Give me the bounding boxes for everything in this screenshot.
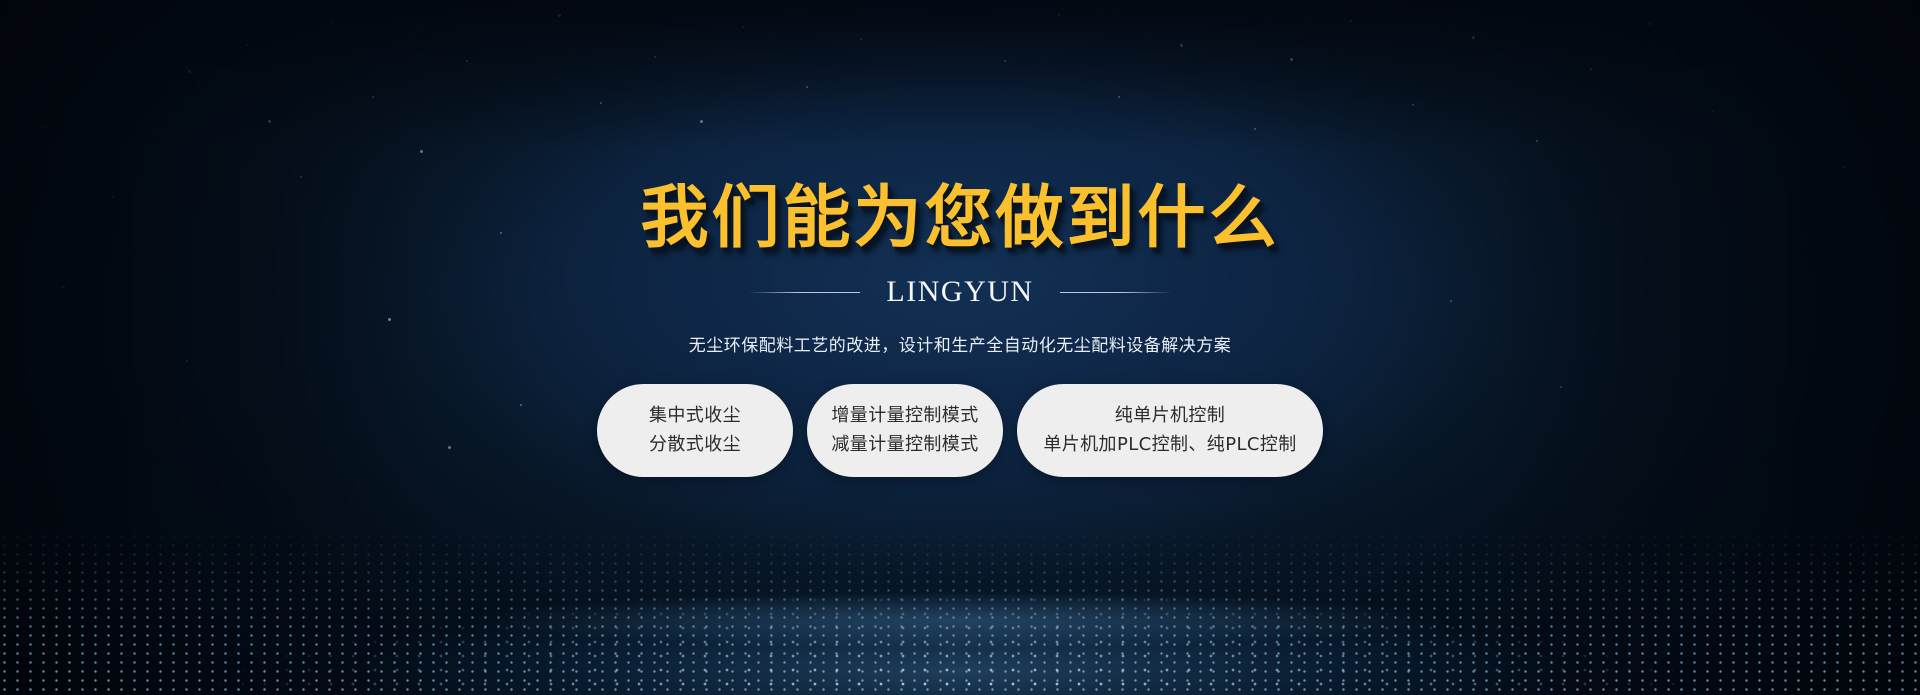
feature-card-line-1: 增量计量控制模式 xyxy=(831,406,978,426)
divider-line-right xyxy=(1060,292,1172,293)
feature-card-metering-mode[interactable]: 增量计量控制模式 减量计量控制模式 xyxy=(807,384,1003,477)
feature-card-line-2: 单片机加PLC控制、纯PLC控制 xyxy=(1043,435,1296,455)
banner-content: 我们能为您做到什么 LINGYUN 无尘环保配料工艺的改进，设计和生产全自动化无… xyxy=(0,0,1920,695)
page-title: 我们能为您做到什么 xyxy=(640,185,1279,253)
banner-description: 无尘环保配料工艺的改进，设计和生产全自动化无尘配料设备解决方案 xyxy=(689,331,1232,356)
hero-banner: 我们能为您做到什么 LINGYUN 无尘环保配料工艺的改进，设计和生产全自动化无… xyxy=(0,0,1920,695)
feature-card-dust-collection[interactable]: 集中式收尘 分散式收尘 xyxy=(597,384,793,477)
feature-card-line-1: 纯单片机控制 xyxy=(1115,406,1225,426)
feature-card-line-2: 分散式收尘 xyxy=(649,435,741,455)
feature-card-control-system[interactable]: 纯单片机控制 单片机加PLC控制、纯PLC控制 xyxy=(1017,384,1323,477)
divider-line-left xyxy=(748,292,860,293)
feature-card-line-2: 减量计量控制模式 xyxy=(831,435,978,455)
brand-latin-name: LINGYUN xyxy=(886,275,1033,309)
feature-card-list: 集中式收尘 分散式收尘 增量计量控制模式 减量计量控制模式 纯单片机控制 单片机… xyxy=(597,384,1323,477)
feature-card-line-1: 集中式收尘 xyxy=(649,406,741,426)
brand-subtitle-row: LINGYUN xyxy=(748,275,1171,309)
